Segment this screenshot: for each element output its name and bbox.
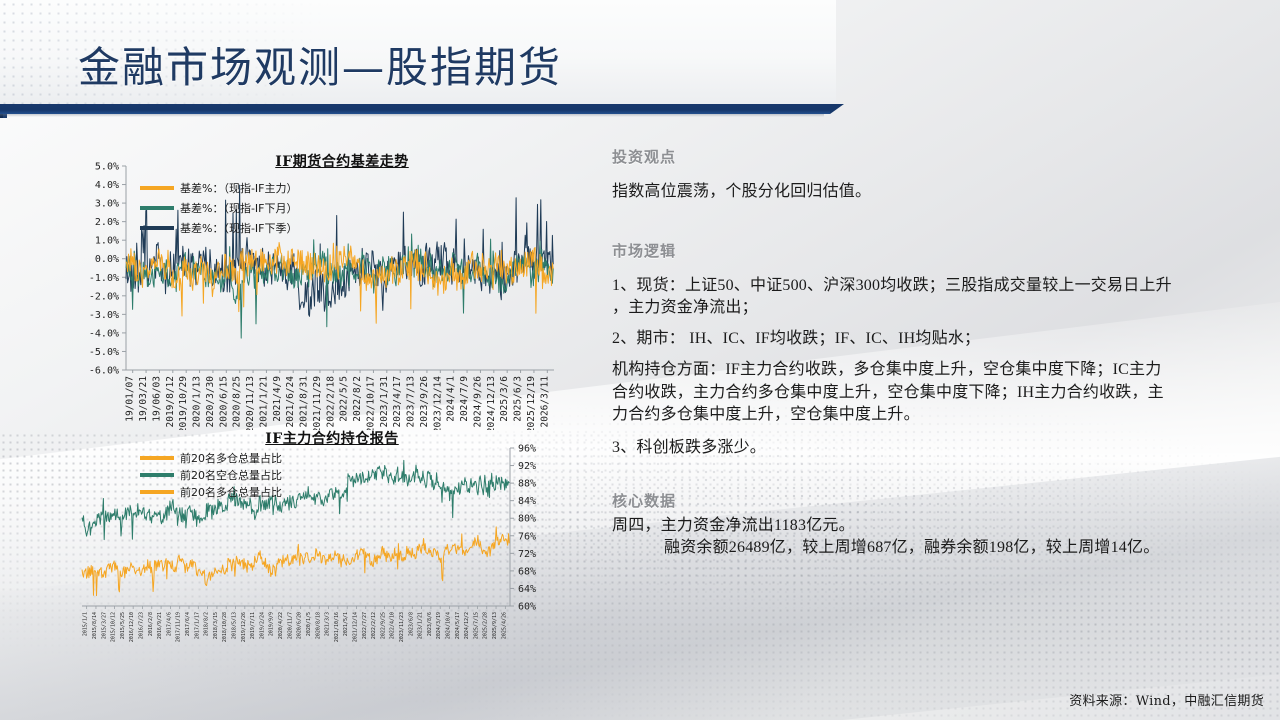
svg-text:2024/10/4: 2024/10/4: [446, 612, 452, 639]
market-logic-item: ，主力资金净流出；: [612, 297, 1262, 320]
svg-text:2023/11/23: 2023/11/23: [399, 612, 405, 642]
svg-text:3.0%: 3.0%: [95, 199, 119, 210]
institution-text-line: 机构持仓方面：IF主力合约收跌，多仓集中度上升，空仓集中度下降；IC主力: [612, 359, 1262, 382]
svg-text:2022/10/17: 2022/10/17: [365, 376, 376, 430]
svg-text:2018/8/2: 2018/8/2: [204, 612, 210, 636]
svg-text:2021/6/24: 2021/6/24: [285, 376, 296, 428]
svg-text:60%: 60%: [518, 602, 536, 613]
svg-text:2025/12/19: 2025/12/19: [526, 376, 537, 430]
legend-item: 基差%：（现指-IF主力）: [140, 180, 298, 196]
svg-text:2018/10/28: 2018/10/28: [222, 612, 228, 642]
chart-position: IF主力合约持仓报告 前20名多仓总量占比 前20名空仓总量占比 前20名多仓总…: [62, 428, 562, 693]
svg-text:92%: 92%: [518, 461, 536, 472]
investment-view-heading: 投资观点: [612, 146, 1262, 167]
svg-text:2021/4/9: 2021/4/9: [272, 376, 283, 422]
legend-item: 基差%：（现指-IF下季）: [140, 220, 298, 236]
core-data-line-1: 周四，主力资金净流出1183亿元。: [612, 515, 1262, 538]
svg-text:2020/6/20: 2020/6/20: [297, 612, 303, 639]
svg-text:2024/9/26: 2024/9/26: [472, 376, 483, 428]
svg-text:2019/9/9: 2019/9/9: [269, 612, 275, 636]
svg-text:72%: 72%: [518, 549, 536, 560]
legend-item: 前20名多仓总量占比: [140, 450, 282, 466]
svg-text:2025/4/26: 2025/4/26: [501, 612, 507, 639]
svg-text:2019/2/24: 2019/2/24: [259, 612, 265, 639]
svg-text:2019/7/11: 2019/7/11: [250, 612, 256, 639]
svg-text:2020/6/15: 2020/6/15: [218, 376, 229, 427]
svg-text:2024/5/17: 2024/5/17: [455, 612, 461, 639]
svg-text:2016/7/23: 2016/7/23: [138, 612, 144, 639]
svg-text:-1.0%: -1.0%: [89, 273, 119, 284]
svg-text:2023/1/31: 2023/1/31: [379, 376, 390, 428]
svg-text:68%: 68%: [518, 566, 536, 577]
header-rule: [0, 104, 830, 114]
chart-basis-plot: 5.0%4.0%3.0%2.0%1.0%0.0%-1.0%-2.0%-3.0%-…: [62, 148, 562, 430]
svg-text:2020/1/5: 2020/1/5: [306, 612, 312, 636]
svg-text:2015/5/25: 2015/5/25: [120, 612, 126, 639]
svg-text:2015/1/1: 2015/1/1: [83, 612, 89, 636]
svg-text:2024/12/13: 2024/12/13: [486, 376, 497, 430]
chart-position-plot: 96%92%88%84%80%76%72%68%64%60%2015/1/120…: [62, 428, 562, 693]
svg-text:2021/10/16: 2021/10/16: [334, 612, 340, 642]
svg-text:2023/12/14: 2023/12/14: [432, 376, 443, 430]
svg-text:2024/12/2: 2024/12/2: [464, 612, 470, 639]
market-logic-item: 2、期市： IH、IC、IF均收跌；IF、IC、IH均贴水；: [612, 328, 1262, 351]
svg-text:2015/3/27: 2015/3/27: [101, 612, 107, 639]
svg-text:2017/1/17: 2017/1/17: [194, 612, 200, 639]
svg-text:2024/7/9: 2024/7/9: [459, 376, 470, 422]
svg-text:2021/11/29: 2021/11/29: [312, 376, 323, 430]
svg-text:19/03/21: 19/03/21: [138, 376, 149, 422]
svg-text:19/01/07: 19/01/07: [125, 376, 136, 422]
svg-text:2022/7/27: 2022/7/27: [362, 612, 368, 639]
svg-text:2021/1/21: 2021/1/21: [258, 376, 269, 428]
legend-label: 前20名多仓总量占比: [180, 484, 282, 500]
svg-text:88%: 88%: [518, 479, 536, 490]
svg-text:4.0%: 4.0%: [95, 180, 119, 191]
source-attribution: 资料来源：Wind，中融汇信期货: [1069, 690, 1264, 709]
svg-text:80%: 80%: [518, 514, 536, 525]
svg-text:2024/4/1: 2024/4/1: [446, 376, 457, 422]
svg-text:2020/8/25: 2020/8/25: [232, 376, 243, 427]
svg-text:64%: 64%: [518, 584, 536, 595]
chart-position-legend: 前20名多仓总量占比 前20名空仓总量占比 前20名多仓总量占比: [140, 450, 282, 501]
svg-text:2020/8/18: 2020/8/18: [315, 612, 321, 639]
svg-text:-5.0%: -5.0%: [89, 347, 119, 358]
legend-label: 前20名空仓总量占比: [180, 467, 282, 483]
core-data-line-2: 融资余额26489亿，较上周增687亿，融券余额198亿，较上周增14亿。: [664, 537, 1262, 560]
svg-text:2022/2/18: 2022/2/18: [325, 376, 336, 428]
svg-text:2015/10/12: 2015/10/12: [111, 612, 117, 642]
svg-text:-4.0%: -4.0%: [89, 328, 119, 339]
svg-text:2.0%: 2.0%: [95, 217, 119, 228]
svg-text:2021/8/31: 2021/8/31: [299, 376, 310, 428]
legend-swatch-icon: [140, 186, 174, 190]
svg-text:-6.0%: -6.0%: [89, 366, 119, 377]
svg-text:2020/3/30: 2020/3/30: [205, 376, 216, 428]
market-logic-item-last: 3、科创板跌多涨少。: [612, 437, 1262, 460]
page-title: 金融市场观测—股指期货: [78, 34, 562, 95]
svg-text:2022/9/25: 2022/9/25: [380, 612, 386, 639]
header-rule-shadow: [0, 114, 824, 117]
legend-swatch-icon: [140, 490, 174, 494]
svg-text:2025/6/3: 2025/6/3: [513, 376, 524, 422]
svg-text:19/06/03: 19/06/03: [151, 376, 162, 422]
legend-swatch-icon: [140, 226, 174, 230]
svg-text:2019/12/26: 2019/12/26: [241, 612, 247, 642]
svg-text:2020/11/7: 2020/11/7: [287, 612, 293, 639]
svg-text:96%: 96%: [518, 444, 536, 455]
svg-text:2022/4/10: 2022/4/10: [390, 612, 396, 639]
market-logic-item: 1、现货：上证50、中证500、沪深300均收跌；三股指成交量较上一交易日上升: [612, 275, 1262, 298]
svg-text:2023/9/26: 2023/9/26: [419, 376, 430, 428]
svg-text:2018/3/15: 2018/3/15: [213, 612, 219, 639]
svg-text:2016/2/8: 2016/2/8: [148, 612, 154, 636]
svg-text:2017/6/4: 2017/6/4: [185, 612, 191, 636]
legend-swatch-icon: [140, 456, 174, 460]
svg-text:2020/4/22: 2020/4/22: [278, 612, 284, 639]
market-logic-heading: 市场逻辑: [612, 240, 1262, 261]
svg-text:2021/5/1: 2021/5/1: [343, 612, 349, 636]
investment-view-text: 指数高位震荡，个股分化回归估值。: [612, 181, 1262, 204]
legend-label: 基差%：（现指-IF下月）: [180, 200, 298, 216]
svg-text:2022/8/2: 2022/8/2: [352, 376, 363, 422]
svg-text:2017/11/19: 2017/11/19: [176, 612, 182, 642]
svg-text:2023/8/6: 2023/8/6: [427, 612, 433, 636]
chart-basis-legend: 基差%：（现指-IF主力） 基差%：（现指-IF下月） 基差%：（现指-IF下季…: [140, 180, 298, 240]
commentary-panel: 投资观点 指数高位震荡，个股分化回归估值。 市场逻辑 1、现货：上证50、中证5…: [612, 146, 1262, 560]
svg-text:2025/2/28: 2025/2/28: [483, 612, 489, 639]
svg-text:2015/8/14: 2015/8/14: [92, 612, 98, 639]
svg-text:2016/9/21: 2016/9/21: [157, 612, 163, 639]
svg-text:2023/7/13: 2023/7/13: [406, 376, 417, 427]
svg-text:2025/3/6: 2025/3/6: [499, 376, 510, 422]
svg-text:0.0%: 0.0%: [95, 254, 119, 265]
legend-swatch-icon: [140, 206, 174, 210]
svg-text:2024/3/19: 2024/3/19: [436, 612, 442, 639]
legend-item: 前20名空仓总量占比: [140, 467, 282, 483]
svg-text:2025/9/13: 2025/9/13: [492, 612, 498, 639]
legend-label: 基差%：（现指-IF下季）: [180, 220, 298, 236]
svg-text:2019/10/29: 2019/10/29: [178, 376, 189, 430]
svg-text:2020/1/13: 2020/1/13: [192, 376, 203, 427]
legend-item: 前20名多仓总量占比: [140, 484, 282, 500]
legend-swatch-icon: [140, 473, 174, 477]
svg-text:2017/4/6: 2017/4/6: [166, 612, 172, 636]
svg-text:2025/7/15: 2025/7/15: [473, 612, 479, 639]
svg-text:2019/8/12: 2019/8/12: [165, 376, 176, 427]
svg-text:84%: 84%: [518, 496, 536, 507]
svg-text:2022/2/12: 2022/2/12: [371, 612, 377, 639]
svg-text:2023/6/8: 2023/6/8: [408, 612, 414, 636]
svg-text:1.0%: 1.0%: [95, 236, 119, 247]
svg-text:2018/5/13: 2018/5/13: [232, 612, 238, 639]
legend-label: 前20名多仓总量占比: [180, 450, 282, 466]
legend-item: 基差%：（现指-IF下月）: [140, 200, 298, 216]
slide-root: 金融市场观测—股指期货 IF期货合约基差走势 基差%：（现指-IF主力） 基差%…: [0, 0, 1280, 720]
svg-text:2022/5/5: 2022/5/5: [339, 376, 350, 422]
institution-text-line: 力合约多仓集中度上升，空仓集中度上升。: [612, 404, 1262, 427]
svg-text:2026/3/11: 2026/3/11: [539, 376, 550, 428]
svg-text:-2.0%: -2.0%: [89, 291, 119, 302]
svg-text:76%: 76%: [518, 531, 536, 542]
svg-text:2016/12/10: 2016/12/10: [129, 612, 135, 642]
svg-text:2021/3/3: 2021/3/3: [325, 612, 331, 636]
chart-basis: IF期货合约基差走势 基差%：（现指-IF主力） 基差%：（现指-IF下月） 基…: [62, 148, 562, 430]
legend-label: 基差%：（现指-IF主力）: [180, 180, 298, 196]
svg-text:-3.0%: -3.0%: [89, 310, 119, 321]
core-data-heading: 核心数据: [612, 490, 1262, 511]
svg-text:2023/1/21: 2023/1/21: [418, 612, 424, 639]
svg-text:5.0%: 5.0%: [95, 162, 119, 173]
institution-text-line: 合约收跌，主力合约多仓集中度上升，空仓集中度下降；IH主力合约收跌，主: [612, 382, 1262, 405]
svg-text:2023/4/17: 2023/4/17: [392, 376, 403, 427]
svg-text:2021/12/14: 2021/12/14: [352, 612, 358, 642]
svg-text:2020/11/13: 2020/11/13: [245, 376, 256, 430]
